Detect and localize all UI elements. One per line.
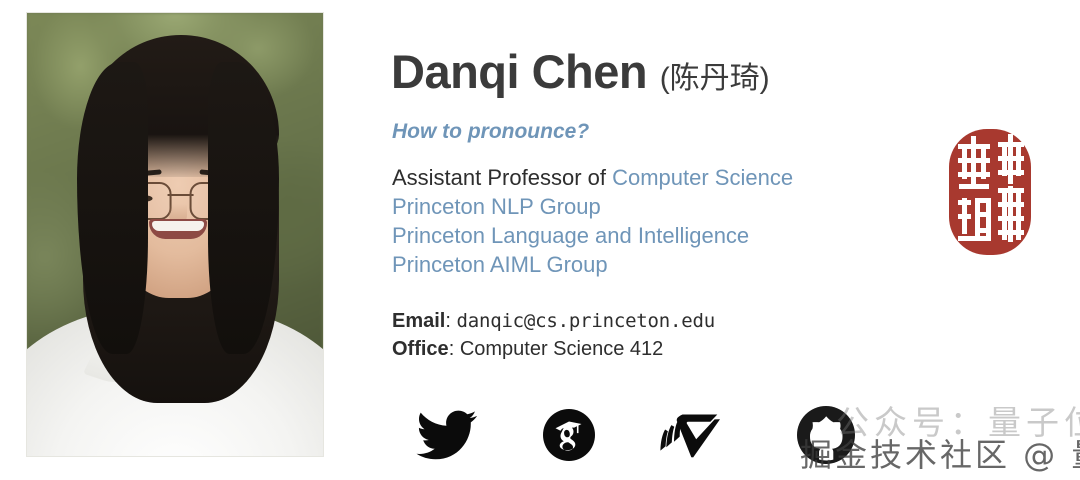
photo-glasses-bridge — [168, 194, 194, 196]
twitter-icon — [416, 409, 478, 461]
page-title: Danqi Chen (陈丹琦) — [391, 44, 770, 99]
affiliation-line-1: Assistant Professor of Computer Science — [392, 163, 793, 192]
social-link-google-scholar[interactable] — [538, 406, 600, 464]
affiliation-block: Assistant Professor of Computer Science … — [392, 163, 793, 279]
office-separator: : — [449, 338, 460, 360]
chinese-seal-stamp — [948, 128, 1032, 256]
social-link-semantic-scholar[interactable] — [662, 406, 724, 464]
page-root: Danqi Chen (陈丹琦) How to pronounce? Assis… — [0, 0, 1080, 480]
link-computer-science[interactable]: Computer Science — [612, 165, 793, 190]
contact-block: Email: danqic@cs.princeton.edu Office: C… — [392, 307, 715, 363]
how-to-pronounce-link[interactable]: How to pronounce? — [392, 120, 589, 144]
email-separator: : — [445, 310, 456, 332]
email-row: Email: danqic@cs.princeton.edu — [392, 307, 715, 335]
social-link-github[interactable] — [795, 406, 857, 464]
office-label: Office — [392, 338, 449, 360]
affiliation-prefix: Assistant Professor of — [392, 165, 612, 190]
social-link-twitter[interactable] — [416, 406, 478, 464]
photo-teeth — [152, 221, 204, 231]
portrait-photo — [27, 13, 323, 456]
name-english: Danqi Chen — [391, 45, 647, 98]
email-label: Email — [392, 310, 445, 332]
office-value: Computer Science 412 — [460, 338, 663, 360]
social-links-row — [416, 406, 886, 468]
github-icon — [797, 406, 855, 464]
office-row: Office: Computer Science 412 — [392, 335, 715, 363]
semantic-scholar-icon — [660, 411, 726, 459]
link-princeton-nlp-group[interactable]: Princeton NLP Group — [392, 192, 793, 221]
name-chinese: (陈丹琦) — [660, 62, 770, 95]
google-scholar-icon — [543, 409, 595, 461]
link-princeton-language-and-intelligence[interactable]: Princeton Language and Intelligence — [392, 221, 793, 250]
link-princeton-aiml-group[interactable]: Princeton AIML Group — [392, 250, 793, 279]
photo-mouth — [149, 219, 207, 239]
email-value[interactable]: danqic@cs.princeton.edu — [456, 310, 715, 332]
